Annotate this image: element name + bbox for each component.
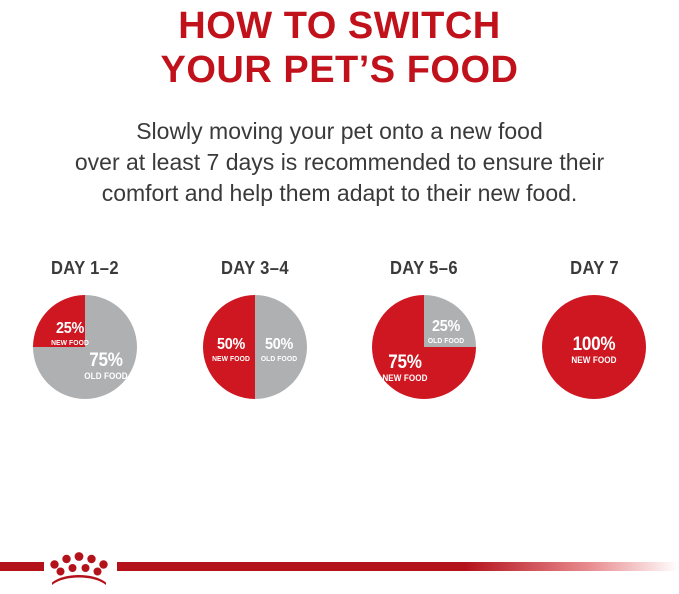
royal-canin-crown-icon [44, 546, 114, 588]
day-label-1-2: DAY 1–2 [51, 258, 119, 279]
pie-slice-percent: 50% [207, 337, 254, 353]
pie-slice-caption: NEW FOOD [44, 339, 96, 347]
pie-slice-label-new-food: 25% NEW FOOD [41, 321, 99, 347]
pie-cell-day-1-2: DAY 1–2 25% NEW FOOD 75% OLD FOOD [5, 258, 165, 399]
pie-slice-label-old-food: 25% OLD FOOD [418, 319, 474, 345]
intro-paragraph: Slowly moving your pet onto a new food o… [0, 116, 679, 209]
pie-slice-percent: 75% [379, 353, 431, 372]
pie-slice-caption: OLD FOOD [255, 355, 302, 363]
title-line-2: YOUR PET’S FOOD [0, 48, 679, 92]
pie-slice-percent: 75% [80, 351, 132, 370]
pie-slice-percent: 25% [421, 319, 471, 335]
pie-chart-row: DAY 1–2 25% NEW FOOD 75% OLD FOOD DAY 3–… [0, 258, 679, 448]
pie-cell-day-5-6: DAY 5–6 25% OLD FOOD 75% NEW FOOD [344, 258, 504, 399]
pie-slice-percent: 25% [44, 321, 96, 337]
pie-chart-day-7: 100% NEW FOOD [542, 295, 646, 399]
pie-cell-day-7: DAY 7 100% NEW FOOD [514, 258, 674, 399]
day-label-3-4: DAY 3–4 [221, 258, 289, 279]
pie-slice-label-old-food: 75% OLD FOOD [77, 351, 135, 381]
pie-slice-caption: OLD FOOD [80, 372, 132, 381]
pie-slice-percent: 50% [255, 337, 302, 353]
day-label-7: DAY 7 [570, 258, 619, 279]
pie-chart-day-3-4: 50% NEW FOOD 50% OLD FOOD [203, 295, 307, 399]
footer-bar-right [117, 562, 679, 571]
pie-slice-caption: NEW FOOD [207, 355, 254, 363]
pie-slice-label-new-food: 100% NEW FOOD [556, 335, 632, 365]
pie-chart-day-1-2: 25% NEW FOOD 75% OLD FOOD [33, 295, 137, 399]
pie-cell-day-3-4: DAY 3–4 50% NEW FOOD 50% OLD FOOD [175, 258, 335, 399]
pie-slice-label-new-food: 75% NEW FOOD [376, 353, 434, 383]
page-title: HOW TO SWITCH YOUR PET’S FOOD [0, 4, 679, 92]
footer [0, 546, 679, 594]
pie-slice-caption: NEW FOOD [560, 356, 628, 365]
pie-slice-label-new-food: 50% NEW FOOD [205, 337, 257, 363]
pie-slice-caption: NEW FOOD [379, 374, 431, 383]
day-label-5-6: DAY 5–6 [390, 258, 458, 279]
footer-bar-left [0, 562, 44, 571]
pie-slice-percent: 100% [560, 335, 628, 354]
pie-chart-day-5-6: 25% OLD FOOD 75% NEW FOOD [372, 295, 476, 399]
intro-line-3: comfort and help them adapt to their new… [0, 178, 679, 209]
intro-line-2: over at least 7 days is recommended to e… [0, 147, 679, 178]
intro-line-1: Slowly moving your pet onto a new food [0, 116, 679, 147]
pie-slice-caption: OLD FOOD [421, 337, 471, 345]
pie-slice-label-old-food: 50% OLD FOOD [253, 337, 305, 363]
title-line-1: HOW TO SWITCH [0, 4, 679, 48]
infographic-root: HOW TO SWITCH YOUR PET’S FOOD Slowly mov… [0, 0, 679, 594]
